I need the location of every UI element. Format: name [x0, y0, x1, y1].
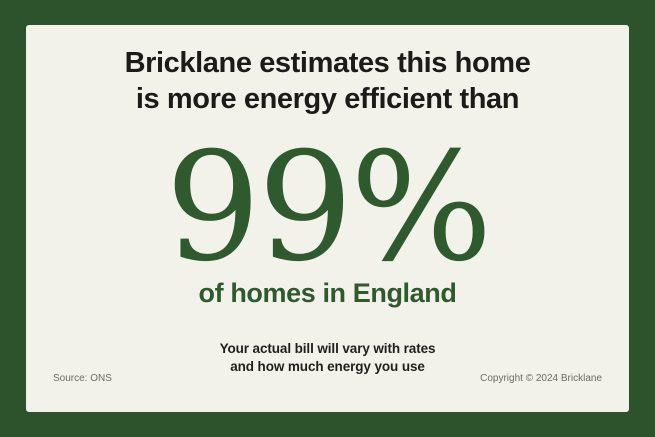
disclaimer-text: Your actual bill will vary with rates an…: [26, 340, 629, 376]
energy-efficiency-card: Bricklane estimates this home is more en…: [0, 0, 655, 437]
hero-subcaption: of homes in England: [26, 277, 629, 309]
source-label: Source: ONS: [53, 372, 112, 385]
card-panel: Bricklane estimates this home is more en…: [26, 25, 629, 412]
disclaimer-line-1: Your actual bill will vary with rates: [26, 340, 629, 358]
headline-line-2: is more energy efficient than: [26, 81, 629, 117]
headline-line-1: Bricklane estimates this home: [26, 45, 629, 81]
hero-percentage-value: 99%: [26, 133, 629, 283]
copyright-label: Copyright © 2024 Bricklane: [480, 372, 602, 385]
page-title: Bricklane estimates this home is more en…: [26, 45, 629, 117]
